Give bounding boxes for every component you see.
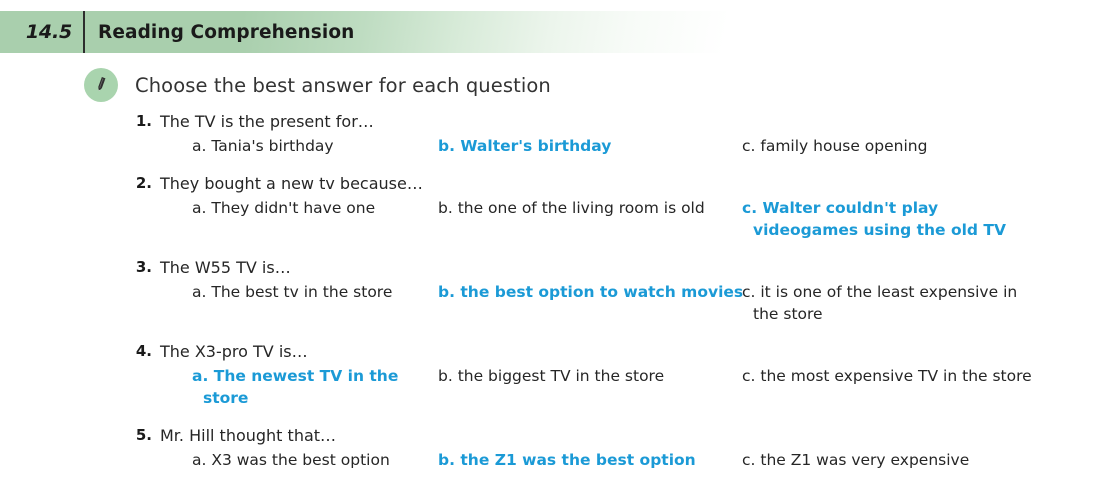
question-prompt: The W55 TV is…: [160, 258, 291, 277]
answer-option[interactable]: a. The best tv in the store: [192, 281, 443, 303]
question-block: 3.The W55 TV is…a. The best tv in the st…: [0, 258, 1100, 333]
question-prompt: They bought a new tv because…: [160, 174, 423, 193]
option-row: a. The newest TV in the storeb. the bigg…: [0, 365, 1100, 417]
instruction-row: Choose the best answer for each question: [84, 68, 551, 102]
answer-option-selected[interactable]: c. Walter couldn't play videogames using…: [742, 197, 1043, 241]
question-prompt: The TV is the present for…: [160, 112, 374, 131]
option-row: a. The best tv in the storeb. the best o…: [0, 281, 1100, 333]
instruction-text: Choose the best answer for each question: [135, 74, 551, 97]
question-stem: 3.The W55 TV is…: [0, 258, 1100, 281]
answer-option[interactable]: b. the one of the living room is old: [438, 197, 745, 219]
option-row: a. They didn't have oneb. the one of the…: [0, 197, 1100, 249]
question-number: 5.: [130, 426, 152, 444]
answer-option[interactable]: c. the Z1 was very expensive: [742, 449, 1043, 471]
question-stem: 1.The TV is the present for…: [0, 112, 1100, 135]
question-block: 2.They bought a new tv because…a. They d…: [0, 174, 1100, 249]
answer-option-selected[interactable]: b. the best option to watch movies: [438, 281, 745, 303]
answer-option-selected[interactable]: a. The newest TV in the store: [192, 365, 443, 409]
answer-option-selected[interactable]: b. the Z1 was the best option: [438, 449, 745, 471]
question-number: 2.: [130, 174, 152, 192]
question-number: 3.: [130, 258, 152, 276]
answer-option[interactable]: c. it is one of the least expensive in t…: [742, 281, 1043, 325]
question-list: 1.The TV is the present for…a. Tania's b…: [0, 112, 1100, 488]
question-block: 1.The TV is the present for…a. Tania's b…: [0, 112, 1100, 165]
answer-option[interactable]: a. They didn't have one: [192, 197, 443, 219]
header-divider: [83, 11, 85, 53]
question-prompt: Mr. Hill thought that…: [160, 426, 336, 445]
option-row: a. Tania's birthdayb. Walter's birthdayc…: [0, 135, 1100, 165]
section-number: 14.5: [0, 11, 72, 53]
answer-option[interactable]: c. the most expensive TV in the store: [742, 365, 1043, 387]
question-stem: 2.They bought a new tv because…: [0, 174, 1100, 197]
question-block: 5.Mr. Hill thought that…a. X3 was the be…: [0, 426, 1100, 479]
answer-option[interactable]: c. family house opening: [742, 135, 1043, 157]
answer-option[interactable]: b. the biggest TV in the store: [438, 365, 745, 387]
section-header: 14.5 Reading Comprehension: [0, 11, 1100, 53]
option-row: a. X3 was the best optionb. the Z1 was t…: [0, 449, 1100, 479]
question-stem: 5.Mr. Hill thought that…: [0, 426, 1100, 449]
question-number: 1.: [130, 112, 152, 130]
question-prompt: The X3-pro TV is…: [160, 342, 308, 361]
question-stem: 4.The X3-pro TV is…: [0, 342, 1100, 365]
question-number: 4.: [130, 342, 152, 360]
answer-option-selected[interactable]: b. Walter's birthday: [438, 135, 745, 157]
pencil-icon: [84, 68, 118, 102]
question-block: 4.The X3-pro TV is…a. The newest TV in t…: [0, 342, 1100, 417]
answer-option[interactable]: a. Tania's birthday: [192, 135, 443, 157]
page-title: Reading Comprehension: [98, 11, 354, 53]
answer-option[interactable]: a. X3 was the best option: [192, 449, 443, 471]
